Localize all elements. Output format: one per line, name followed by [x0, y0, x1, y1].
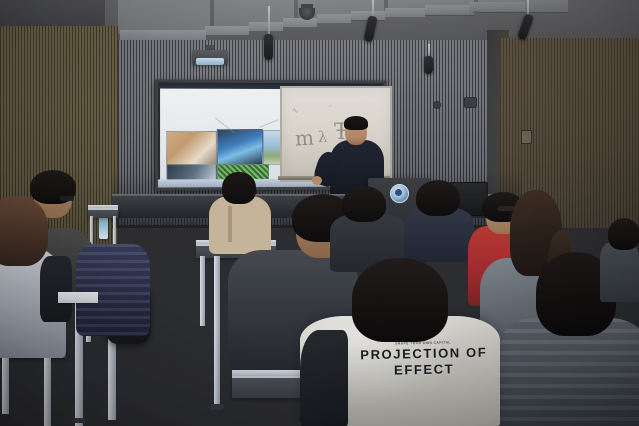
attendee-rear-center-hair: [342, 186, 386, 222]
whiteboard-mark-0: ∿: [292, 106, 299, 115]
attendee-tan-puffer-zip: [228, 206, 232, 242]
whiteboard-mark-2: m: [294, 126, 314, 151]
whiteboard-mark-1: ⸍: [328, 102, 333, 113]
attendee-tan-puffer-jacket: [209, 196, 271, 254]
attendee-rear-right-torso: [404, 208, 474, 262]
ceiling-step-1: [205, 26, 249, 35]
projector-lens-icon: [196, 58, 224, 65]
jacket-text-line1: PROJECTION OF: [352, 344, 496, 363]
attendee-long-hair-left-arm: [40, 256, 72, 322]
ceiling-step-0: [120, 30, 206, 40]
presenter-hand: [312, 176, 322, 185]
ceiling-step-2: [249, 22, 283, 31]
ceiling-left-dark: [0, 0, 105, 28]
ceiling-step-4: [317, 14, 351, 23]
attendee-tan-puffer-hair: [222, 172, 256, 204]
attendee-far-right-edge-torso: [600, 242, 639, 302]
attendee-red-top-glasses-icon: [498, 206, 514, 211]
jacket-text: PROJECTION OF EFFECT: [352, 344, 497, 379]
hanging-light-1: [264, 34, 273, 60]
ceiling-step-6: [385, 8, 425, 17]
desk-left-front-leg-2: [2, 356, 9, 414]
presenter-hair: [344, 116, 368, 130]
hanging-light-4: [424, 56, 433, 74]
slide-tile-blue-glass-building: [217, 129, 263, 167]
attendee-white-jacket-shoulder-left: [300, 330, 348, 426]
attendee-navy-puffer-jacket: [76, 244, 150, 336]
ceiling-step-7: [425, 5, 469, 14]
wall-switch-plate[interactable]: [521, 130, 532, 144]
attendee-long-hair-left-hair: [0, 196, 48, 266]
glasses-icon: [60, 196, 74, 201]
slide-tile-timber-pavilion: [166, 131, 217, 165]
lecture-hall-photo: ∿ ⸍ m λ Ŧ: [0, 0, 639, 426]
paper-sheet-left[interactable]: [58, 292, 98, 303]
attendee-white-jacket-hair: [352, 258, 448, 342]
hanging-rod-1: [268, 6, 270, 36]
ceiling-step-3: [283, 18, 317, 27]
desk-center-leg-2: [214, 256, 220, 406]
wall-speaker-icon: [464, 97, 477, 108]
slide-tile-dark-render: [166, 164, 217, 179]
attendee-far-right-edge-hair: [608, 218, 639, 250]
institution-emblem-center: [395, 189, 402, 196]
ceiling-step-8: [469, 2, 525, 11]
slide-leader-line-2: [260, 119, 279, 127]
desk-center-leg-1: [200, 256, 205, 326]
attendee-rear-right-hair: [416, 180, 460, 216]
wall-sensor-icon: [433, 101, 441, 109]
jacket-text-line2: EFFECT: [352, 360, 496, 379]
whiteboard-mark-3: λ: [318, 128, 328, 146]
desk-left-tall-foot: [73, 418, 86, 423]
desk-center-foot: [210, 404, 224, 410]
desk-left-front-leg-1: [44, 356, 51, 426]
